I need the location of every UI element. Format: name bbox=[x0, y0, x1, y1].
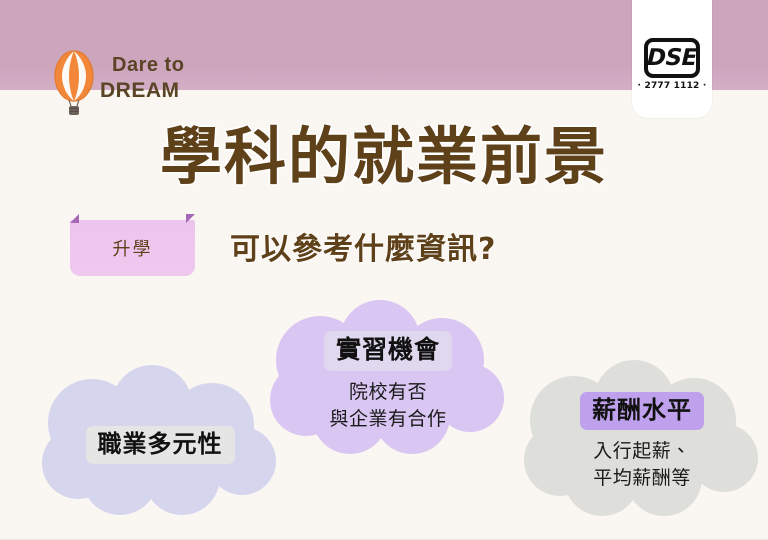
page-title: 學科的就業前景 bbox=[0, 126, 768, 188]
page-subtitle: 可以參考什麼資訊? bbox=[230, 235, 496, 265]
slide-canvas: DSE · 2777 1112 · Dare to DREAM 學科的就業前景 … bbox=[0, 0, 768, 540]
brand-tagline-line2: DREAM bbox=[100, 80, 184, 102]
cloud-shape bbox=[518, 358, 766, 526]
dse-mark-label: DSE bbox=[647, 47, 698, 70]
cloud-internship-opportunity: 實習機會 院校有否 與企業有合作 bbox=[262, 300, 514, 464]
category-tag-label: 升學 bbox=[70, 220, 195, 276]
dse-badge: DSE · 2777 1112 · bbox=[632, 0, 712, 118]
dse-logo-mark: DSE bbox=[644, 38, 700, 78]
cloud-career-diversity: 職業多元性 bbox=[36, 365, 284, 525]
brand-tagline-line1: Dare to bbox=[112, 55, 184, 76]
dse-phone-number: · 2777 1112 · bbox=[638, 81, 707, 91]
cloud-shape bbox=[36, 365, 284, 525]
hot-air-balloon-icon bbox=[52, 50, 96, 118]
cloud-salary-level: 薪酬水平 入行起薪、 平均薪酬等 bbox=[518, 358, 766, 526]
cloud-shape bbox=[262, 300, 514, 464]
brand-tagline: Dare to DREAM bbox=[100, 55, 184, 102]
category-tag: 升學 bbox=[70, 214, 195, 276]
